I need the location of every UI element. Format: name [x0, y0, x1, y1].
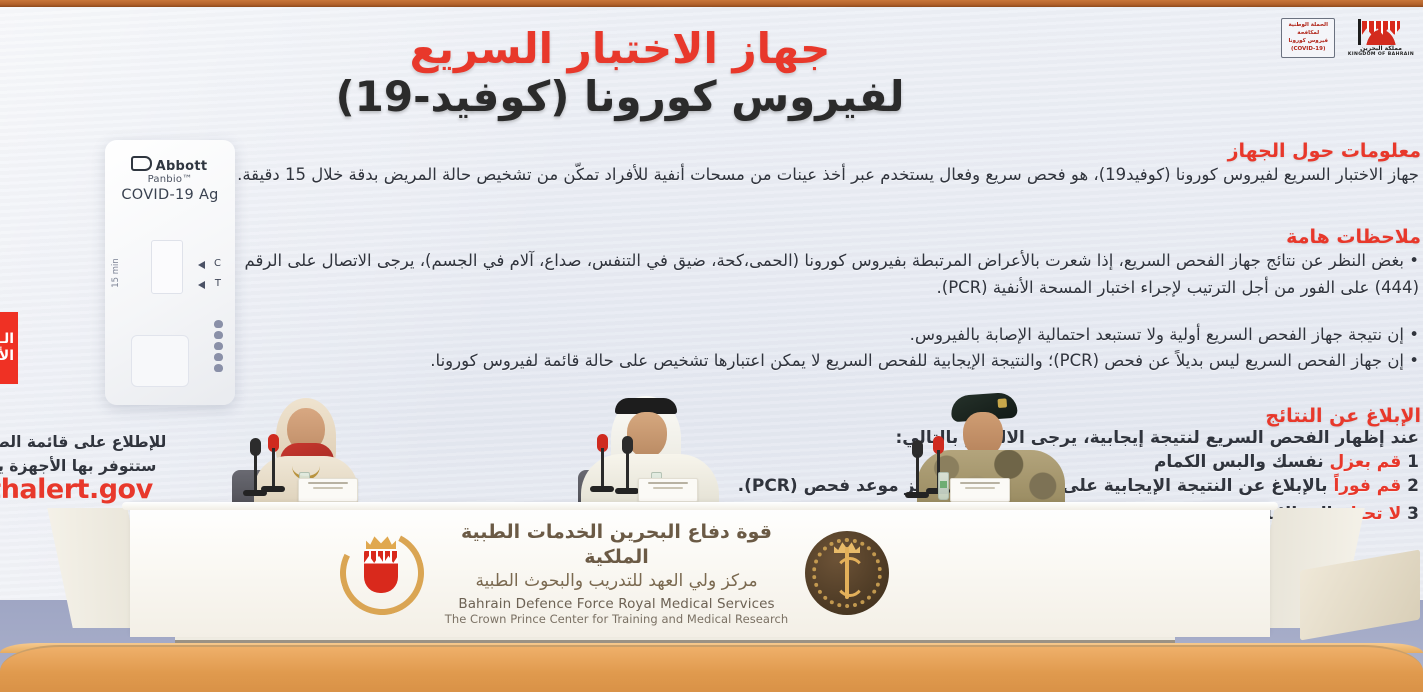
- reporting-step-1-number: 1: [1407, 452, 1419, 472]
- nameplate-right: [950, 478, 1010, 502]
- kit-test-arrow-icon: [198, 281, 205, 289]
- signage-arabic-line2: مركز ولي العهد للتدريب والبحوث الطبية: [436, 570, 797, 593]
- microphone-left-red: [268, 432, 288, 494]
- microphone-left-black: [250, 436, 270, 498]
- microphone-right-black: [912, 438, 932, 498]
- section-heading-reporting-results: الإبلاغ عن النتائج: [721, 405, 1421, 427]
- pharmacy-list-note: للإطلاع على قائمة الصيدليات التي ستتوفر …: [0, 430, 182, 478]
- microphone-center-red: [597, 432, 617, 494]
- signage-english-line2: The Crown Prince Center for Training and…: [436, 612, 797, 626]
- stage-front-panel: [0, 645, 1423, 692]
- reporting-step-1-text: نفسك والبس الكمام: [1154, 452, 1324, 472]
- red-callout-line1: الـ: [0, 331, 14, 349]
- red-callout-line2: الأ: [0, 348, 14, 366]
- press-conference-screenshot: جهاز الاختبار السريع لفيروس كورونا (كوفي…: [0, 0, 1423, 692]
- kit-product-label: COVID-19 Ag: [105, 187, 235, 203]
- kit-control-arrow-icon: [198, 261, 205, 269]
- campaign-covid-label: (COVID-19): [1288, 46, 1328, 54]
- campaign-line3: فيروس كورونا: [1288, 38, 1328, 46]
- abbott-logo-icon: [131, 156, 152, 171]
- podium-signage: قوة دفاع البحرين الخدمات الطبية الملكية …: [330, 521, 895, 625]
- medical-services-emblem-icon: [805, 531, 889, 615]
- section-heading-device-info: معلومات حول الجهاز: [721, 140, 1421, 162]
- kit-subbrand-label: Panbio™: [105, 174, 235, 185]
- water-bottle-right: [938, 472, 949, 500]
- signage-english-line1: Bahrain Defence Force Royal Medical Serv…: [436, 596, 797, 612]
- reporting-step-2-number: 2: [1407, 476, 1419, 496]
- reporting-step-2-highlight: قم فوراً: [1333, 476, 1401, 496]
- kingdom-label-en: KINGDOM OF BAHRAIN: [1345, 52, 1417, 57]
- slide-title-line1: جهاز الاختبار السريع: [300, 26, 940, 71]
- section-heading-important-notes: ملاحظات هامة: [721, 226, 1421, 248]
- reporting-intro: عند إظهار الفحص السريع لنتيجة إيجابية، ي…: [719, 428, 1419, 448]
- important-note-3: • إن جهاز الفحص السريع ليس بديلاً عن فحص…: [204, 348, 1419, 375]
- nameplate-center: [638, 478, 698, 502]
- kit-droplet-icons: [214, 320, 223, 372]
- reporting-step-1: 1 قم بعزل نفسك والبس الكمام: [719, 452, 1419, 472]
- important-note-2: • إن نتيجة جهاز الفحص السريع أولية ولا ت…: [204, 322, 1419, 349]
- reporting-step-3-number: 3: [1407, 504, 1419, 524]
- reporting-step-1-highlight: قم بعزل: [1330, 452, 1402, 472]
- national-campaign-logo: الحملة الوطنية لمكافحة فيروس كورونا (COV…: [1281, 18, 1335, 57]
- logo-bar: الحملة الوطنية لمكافحة فيروس كورونا (COV…: [1237, 12, 1417, 64]
- red-callout-badge: الـ الأ: [0, 312, 18, 384]
- nameplate-left: [298, 478, 358, 502]
- bahrain-defence-force-crest-icon: [336, 527, 428, 619]
- device-info-paragraph: جهاز الاختبار السريع لفيروس كورونا (كوفي…: [204, 162, 1419, 189]
- kit-result-window: [151, 240, 183, 294]
- kit-test-marker: T: [215, 278, 221, 289]
- ceiling-wood-trim: [0, 0, 1423, 7]
- kit-timer-label: 15 min: [111, 258, 121, 288]
- kingdom-of-bahrain-logo: مملكة البحرين KINGDOM OF BAHRAIN: [1345, 19, 1417, 58]
- rapid-test-kit-illustration: Abbott Panbio™ COVID-19 Ag 15 min C T: [105, 140, 235, 405]
- campaign-line2: لمكافحة: [1288, 30, 1328, 38]
- signage-arabic-line1: قوة دفاع البحرين الخدمات الطبية الملكية: [436, 520, 797, 570]
- slide-title-line2: لفيروس كورونا (كوفيد-19): [205, 74, 1035, 119]
- kit-control-marker: C: [214, 258, 221, 269]
- healthalert-url: healthalert.gov: [0, 474, 164, 505]
- kit-brand-label: Abbott: [156, 159, 208, 174]
- kit-sample-well: [131, 335, 189, 387]
- important-note-1: • بغض النظر عن نتائج جهاز الفحص السريع، …: [204, 248, 1419, 301]
- podium-signage-text: قوة دفاع البحرين الخدمات الطبية الملكية …: [428, 520, 805, 627]
- kit-brand-row: Abbott: [105, 156, 235, 174]
- bahrain-crest-icon: [1358, 19, 1404, 45]
